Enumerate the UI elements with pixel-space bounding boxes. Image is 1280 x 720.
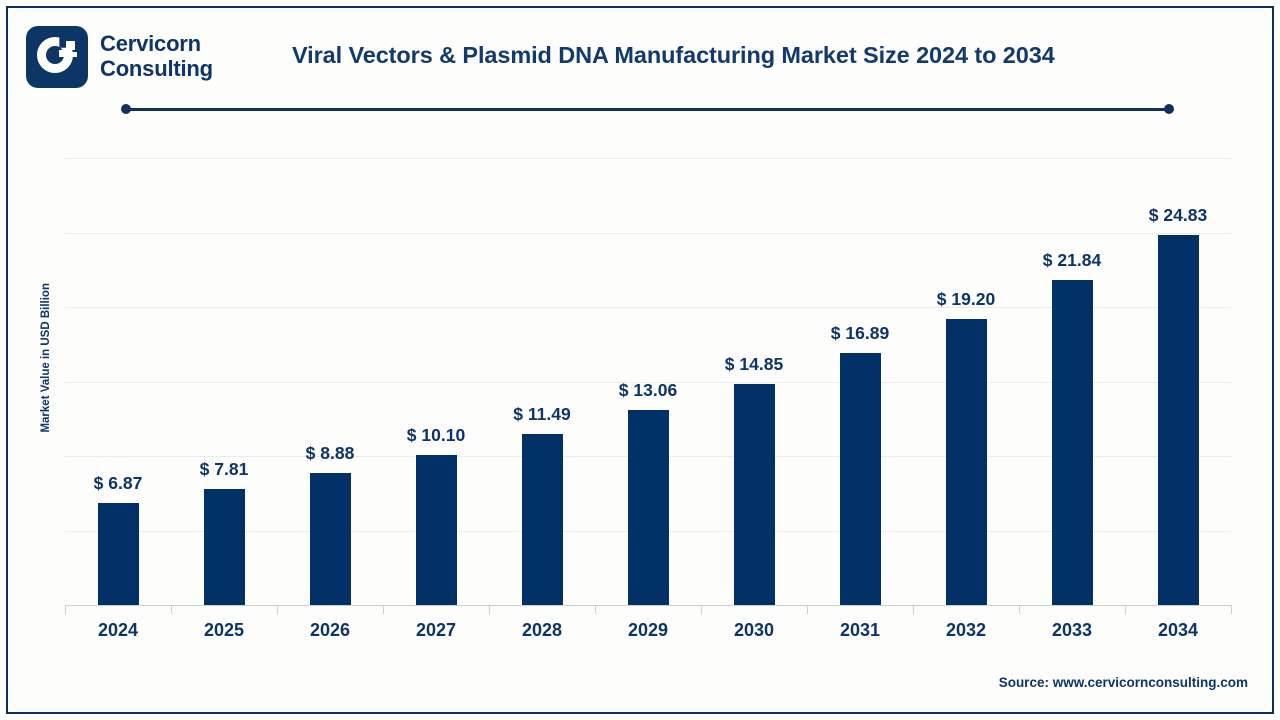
x-axis-tick bbox=[489, 605, 490, 614]
source-note: Source: www.cervicornconsulting.com bbox=[999, 675, 1248, 690]
bar[interactable] bbox=[840, 353, 881, 605]
x-axis-tick-label: 2030 bbox=[734, 620, 774, 641]
bar-value-label: $ 24.83 bbox=[1149, 205, 1207, 226]
x-axis-tick bbox=[65, 605, 66, 614]
chart-title: Viral Vectors & Plasmid DNA Manufacturin… bbox=[292, 42, 1055, 69]
x-axis-tick bbox=[277, 605, 278, 614]
x-axis-tick-label: 2024 bbox=[98, 620, 138, 641]
x-axis-tick bbox=[701, 605, 702, 614]
bar-value-label: $ 6.87 bbox=[94, 473, 143, 494]
bar[interactable] bbox=[628, 410, 669, 605]
x-axis-tick-label: 2031 bbox=[840, 620, 880, 641]
bar-value-label: $ 16.89 bbox=[831, 323, 889, 344]
divider-dot-right bbox=[1164, 104, 1174, 114]
x-axis-tick-label: 2028 bbox=[522, 620, 562, 641]
x-axis-tick-label: 2029 bbox=[628, 620, 668, 641]
bar[interactable] bbox=[1158, 235, 1199, 605]
x-axis-tick-label: 2026 bbox=[310, 620, 350, 641]
bar[interactable] bbox=[204, 489, 245, 605]
header-divider bbox=[126, 108, 1169, 111]
bar[interactable] bbox=[416, 455, 457, 605]
bar[interactable] bbox=[734, 384, 775, 605]
bar-value-label: $ 14.85 bbox=[725, 354, 783, 375]
gridline bbox=[65, 158, 1231, 159]
logo-square-1 bbox=[66, 41, 75, 50]
bar-value-label: $ 10.10 bbox=[407, 425, 465, 446]
chart-frame: Cervicorn Consulting Viral Vectors & Pla… bbox=[6, 6, 1274, 714]
x-axis-tick bbox=[383, 605, 384, 614]
x-axis-tick bbox=[1125, 605, 1126, 614]
bar-value-label: $ 13.06 bbox=[619, 380, 677, 401]
bar-value-label: $ 11.49 bbox=[513, 404, 570, 425]
bar[interactable] bbox=[522, 434, 563, 605]
gridline bbox=[65, 233, 1231, 234]
divider-dot-left bbox=[121, 104, 131, 114]
logo-square-2 bbox=[59, 50, 66, 57]
bar[interactable] bbox=[1052, 280, 1093, 605]
y-axis-label: Market Value in USD Billion bbox=[40, 283, 52, 433]
plot-area: $ 6.87$ 7.81$ 8.88$ 10.10$ 11.49$ 13.06$… bbox=[65, 158, 1231, 605]
bar-value-label: $ 21.84 bbox=[1043, 250, 1101, 271]
bar[interactable] bbox=[946, 319, 987, 605]
x-axis-tick-label: 2027 bbox=[416, 620, 456, 641]
bar-value-label: $ 7.81 bbox=[200, 459, 249, 480]
x-axis-tick bbox=[595, 605, 596, 614]
x-axis-tick-label: 2034 bbox=[1158, 620, 1198, 641]
bar[interactable] bbox=[310, 473, 351, 605]
x-axis-tick bbox=[171, 605, 172, 614]
x-axis-tick-label: 2032 bbox=[946, 620, 986, 641]
x-axis-tick-label: 2025 bbox=[204, 620, 244, 641]
logo-square-3 bbox=[72, 52, 77, 57]
x-axis-tick bbox=[913, 605, 914, 614]
x-axis-tick bbox=[1231, 605, 1232, 614]
bar-value-label: $ 19.20 bbox=[937, 289, 995, 310]
brand-logo: Cervicorn Consulting bbox=[26, 26, 213, 88]
x-axis-line bbox=[65, 605, 1231, 606]
brand-name: Cervicorn Consulting bbox=[100, 32, 213, 81]
x-axis-tick-label: 2033 bbox=[1052, 620, 1092, 641]
x-axis-tick bbox=[1019, 605, 1020, 614]
bar[interactable] bbox=[98, 503, 139, 605]
cervicorn-c-logo-icon bbox=[26, 26, 88, 88]
bar-value-label: $ 8.88 bbox=[306, 443, 355, 464]
x-axis-tick bbox=[807, 605, 808, 614]
